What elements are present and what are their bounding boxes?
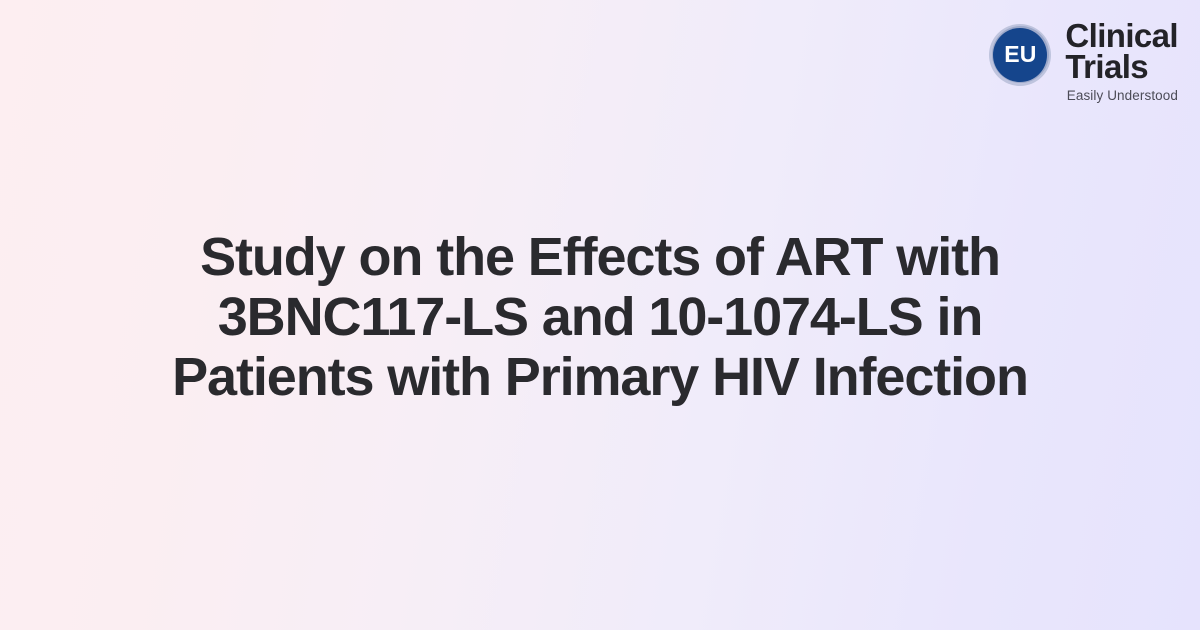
- page-title-line-2: 3BNC117-LS and 10-1074-LS in: [110, 287, 1090, 347]
- share-card: EU Clinical Trials Easily Understood Stu…: [0, 0, 1200, 630]
- page-title-line-1: Study on the Effects of ART with: [110, 227, 1090, 287]
- page-title-line-3: Patients with Primary HIV Infection: [110, 347, 1090, 407]
- page-title: Study on the Effects of ART with 3BNC117…: [70, 227, 1130, 407]
- headline-container: Study on the Effects of ART with 3BNC117…: [0, 0, 1200, 630]
